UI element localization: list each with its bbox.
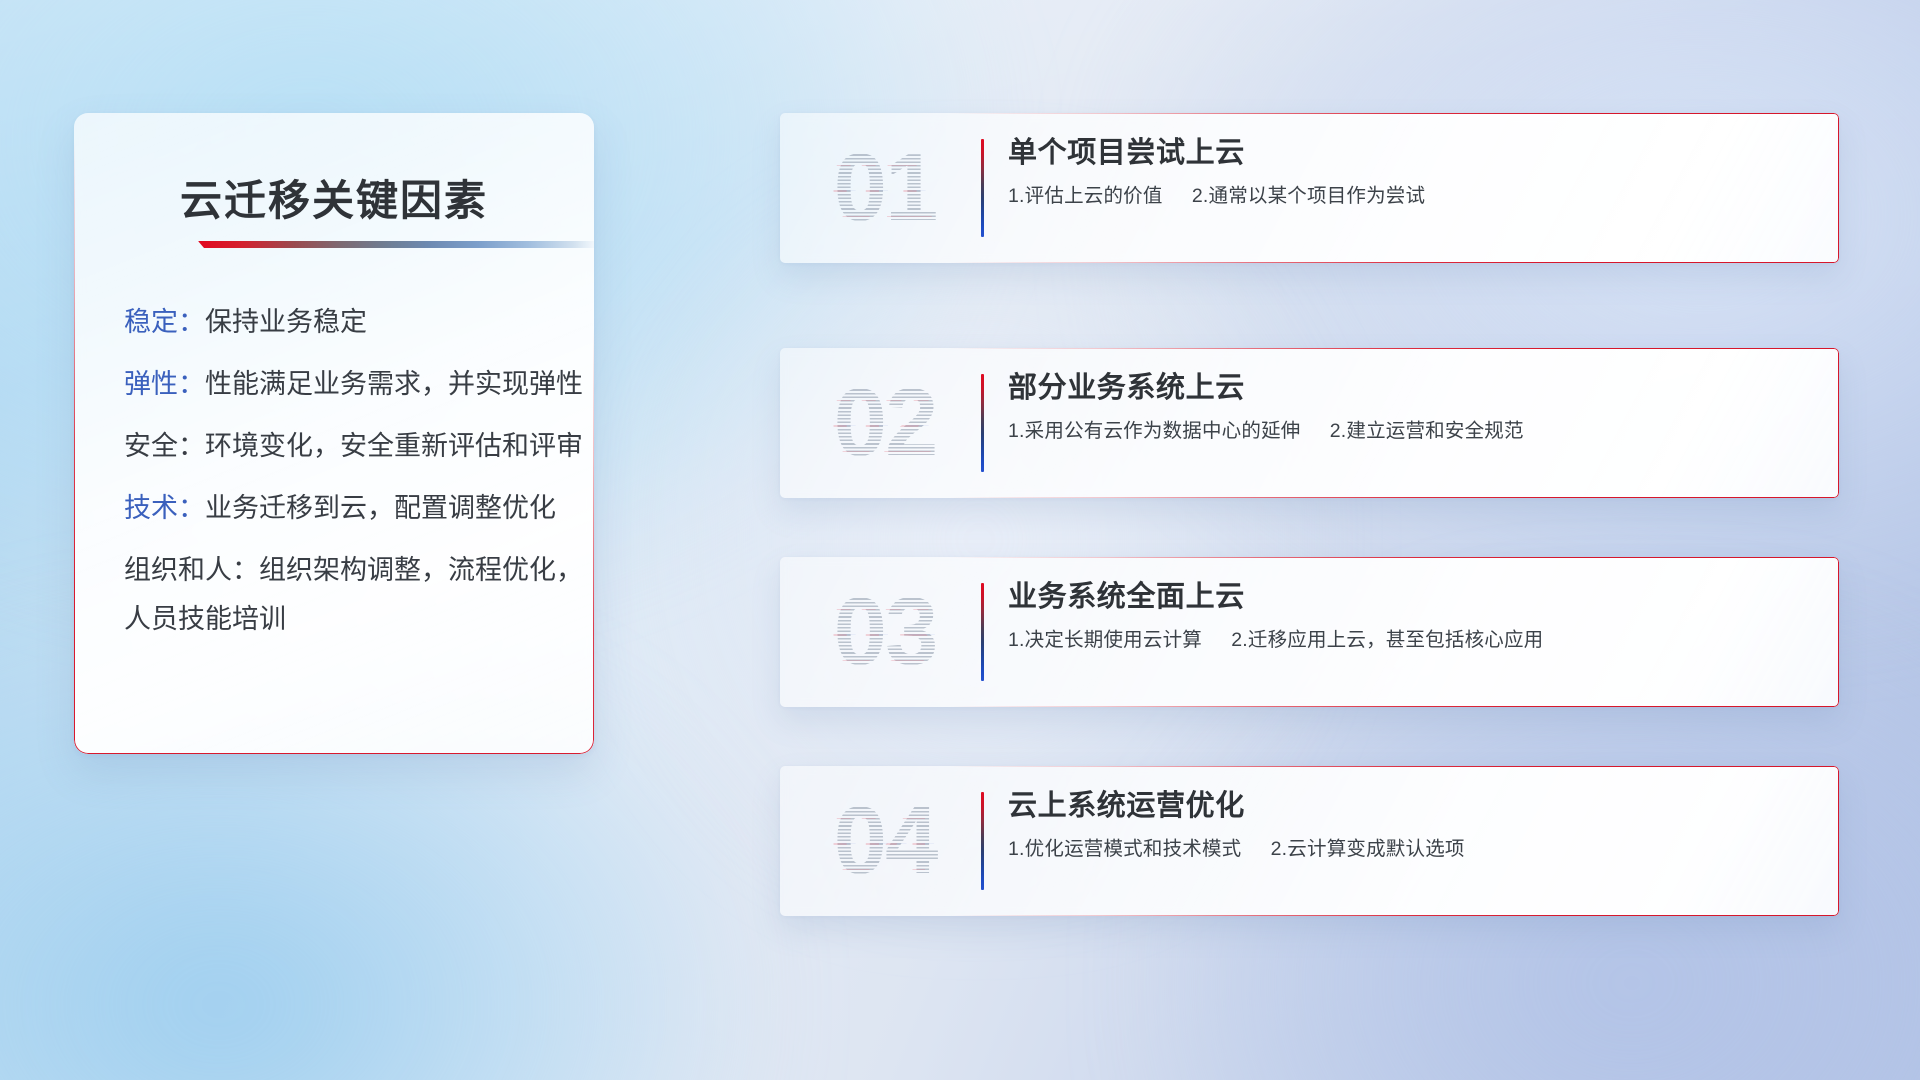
factor-label-stability: 稳定：	[124, 307, 205, 337]
stage-card-03-points: 1.决定长期使用云计算 2.迁移应用上云，甚至包括核心应用	[1008, 629, 1817, 652]
stage-card-02-point-2: 2.建立运营和安全规范	[1330, 420, 1524, 442]
stage-card-04-point-2: 2.云计算变成默认选项	[1271, 838, 1465, 860]
stage-card-01[interactable]: 01 单个项目尝试上云 1.评估上云的价值 2.通常以某个项目作为尝试	[780, 113, 1839, 263]
list-item-technology: 技术：业务迁移到云，配置调整优化	[124, 495, 566, 522]
stage-card-03-point-1: 1.决定长期使用云计算	[1008, 629, 1202, 651]
stage-card-04-divider	[981, 792, 984, 890]
stage-card-04[interactable]: 04 云上系统运营优化 1.优化运营模式和技术模式 2.云计算变成默认选项	[780, 766, 1839, 916]
factor-text-organization: 组织架构调整，流程优化，	[259, 555, 583, 585]
key-factors-list: 稳定：保持业务稳定 弹性：性能满足业务需求，并实现弹性 安全：环境变化，安全重新…	[124, 309, 566, 668]
stage-card-01-divider	[981, 139, 984, 237]
stage-card-01-title: 单个项目尝试上云	[1008, 137, 1817, 170]
stage-card-02-point-1: 1.采用公有云作为数据中心的延伸	[1008, 420, 1300, 442]
stage-card-01-points: 1.评估上云的价值 2.通常以某个项目作为尝试	[1008, 185, 1817, 208]
stage-number-03: 03	[810, 573, 960, 691]
stage-card-04-body: 云上系统运营优化 1.优化运营模式和技术模式 2.云计算变成默认选项	[1008, 790, 1817, 862]
stage-card-02[interactable]: 02 部分业务系统上云 1.采用公有云作为数据中心的延伸 2.建立运营和安全规范	[780, 348, 1839, 498]
page-title: 云迁移关键因素	[74, 167, 594, 228]
slide-stage: 云迁移关键因素 稳定：保持业务稳定 弹性：性能满足业务需求，并实现弹性 安全：环…	[0, 0, 1920, 1080]
title-underline-rule	[198, 241, 594, 248]
list-item-organization: 组织和人：组织架构调整，流程优化，	[124, 557, 566, 584]
key-factors-panel: 云迁移关键因素 稳定：保持业务稳定 弹性：性能满足业务需求，并实现弹性 安全：环…	[74, 113, 594, 754]
factor-label-elasticity: 弹性：	[124, 369, 205, 399]
factor-label-security: 安全：	[124, 431, 205, 461]
stage-card-02-divider	[981, 374, 984, 472]
stage-card-04-points: 1.优化运营模式和技术模式 2.云计算变成默认选项	[1008, 838, 1817, 861]
stage-card-01-point-1: 1.评估上云的价值	[1008, 185, 1163, 207]
stage-number-04: 04	[810, 782, 960, 900]
stage-card-03-point-2: 2.迁移应用上云，甚至包括核心应用	[1231, 629, 1543, 651]
stage-number-01: 01	[810, 129, 960, 247]
factor-text-stability: 保持业务稳定	[205, 307, 367, 337]
stage-card-03-body: 业务系统全面上云 1.决定长期使用云计算 2.迁移应用上云，甚至包括核心应用	[1008, 581, 1817, 653]
factor-text-organization-continued: 人员技能培训	[124, 606, 566, 633]
list-item-security: 安全：环境变化，安全重新评估和评审	[124, 433, 566, 460]
stage-card-02-title: 部分业务系统上云	[1008, 372, 1817, 405]
stage-card-02-points: 1.采用公有云作为数据中心的延伸 2.建立运营和安全规范	[1008, 420, 1817, 443]
list-item-elasticity: 弹性：性能满足业务需求，并实现弹性	[124, 371, 566, 398]
stage-card-02-body: 部分业务系统上云 1.采用公有云作为数据中心的延伸 2.建立运营和安全规范	[1008, 372, 1817, 444]
stage-number-02: 02	[810, 364, 960, 482]
factor-text-security: 环境变化，安全重新评估和评审	[205, 431, 583, 461]
stage-card-04-title: 云上系统运营优化	[1008, 790, 1817, 823]
stage-card-03[interactable]: 03 业务系统全面上云 1.决定长期使用云计算 2.迁移应用上云，甚至包括核心应…	[780, 557, 1839, 707]
stage-card-01-body: 单个项目尝试上云 1.评估上云的价值 2.通常以某个项目作为尝试	[1008, 137, 1817, 209]
factor-label-organization: 组织和人：	[124, 555, 259, 585]
factor-label-technology: 技术：	[124, 493, 205, 523]
stage-card-03-title: 业务系统全面上云	[1008, 581, 1817, 614]
factor-text-elasticity: 性能满足业务需求，并实现弹性	[205, 369, 583, 399]
stage-card-03-divider	[981, 583, 984, 681]
list-item-stability: 稳定：保持业务稳定	[124, 309, 566, 336]
stage-card-04-point-1: 1.优化运营模式和技术模式	[1008, 838, 1241, 860]
factor-text-technology: 业务迁移到云，配置调整优化	[205, 493, 556, 523]
stage-card-01-point-2: 2.通常以某个项目作为尝试	[1192, 185, 1425, 207]
